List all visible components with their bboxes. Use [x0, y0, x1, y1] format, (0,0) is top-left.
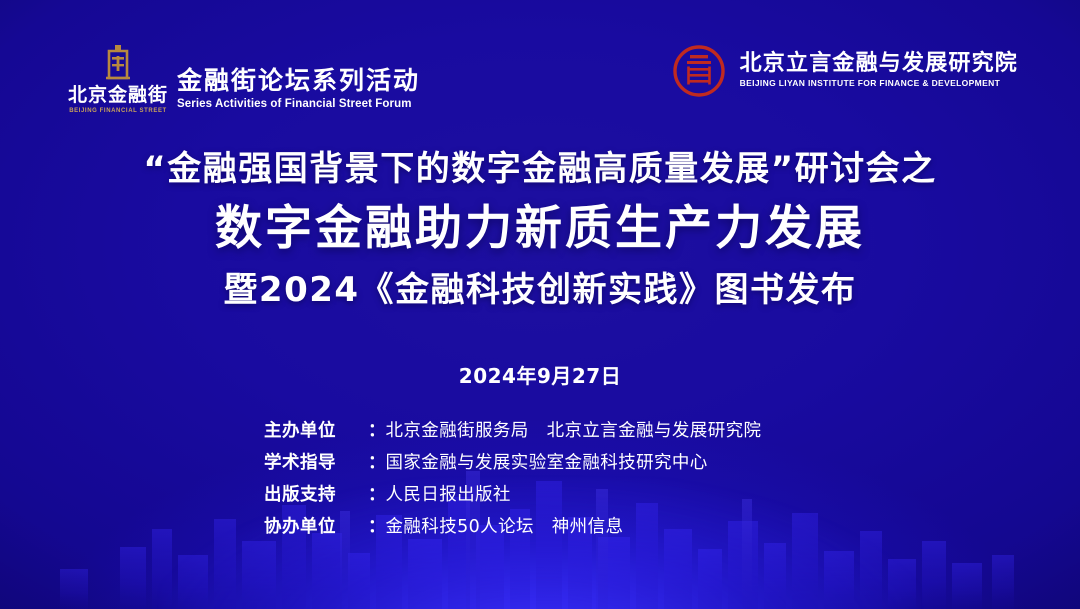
institute-name-zh: 北京立言金融与发展研究院 [740, 52, 1018, 76]
event-poster: 北京金融街 BEIJING FINANCIAL STREET 金融街论坛系列活动… [0, 0, 1080, 609]
poster-titles: “金融强国背景下的数字金融高质量发展”研讨会之 数字金融助力新质生产力发展 暨2… [0, 148, 1080, 311]
logo-left-en-name: BEIJING FINANCIAL STREET [69, 108, 167, 114]
logo-left-zh-name: 北京金融街 [68, 86, 168, 105]
credit-colon: ： [368, 514, 386, 541]
credit-row: 出版支持 ： 人民日报出版社 [264, 482, 816, 509]
credit-colon: ： [368, 482, 386, 509]
credit-colon: ： [368, 418, 386, 445]
title-line-1: “金融强国背景下的数字金融高质量发展”研讨会之 [0, 148, 1080, 191]
gate-seal-icon [101, 42, 135, 82]
credit-value: 国家金融与发展实验室金融科技研究中心 [386, 450, 708, 477]
credit-value: 北京金融街服务局 北京立言金融与发展研究院 [386, 418, 762, 445]
credit-label: 出版支持 [264, 482, 368, 509]
round-seal-icon [672, 44, 726, 98]
logo-right-titles: 北京立言金融与发展研究院 BEIJING LIYAN INSTITUTE FOR… [740, 52, 1018, 90]
title-line-3: 暨2024《金融科技创新实践》图书发布 [0, 269, 1080, 312]
credit-label: 协办单位 [264, 514, 368, 541]
credit-row: 主办单位 ： 北京金融街服务局 北京立言金融与发展研究院 [264, 418, 816, 445]
forum-series-title-en: Series Activities of Financial Street Fo… [177, 98, 420, 110]
logo-left-titles: 金融街论坛系列活动 Series Activities of Financial… [177, 68, 420, 114]
forum-series-title-zh: 金融街论坛系列活动 [177, 68, 420, 94]
credit-label: 学术指导 [264, 450, 368, 477]
credit-label: 主办单位 [264, 418, 368, 445]
logo-beijing-financial-street: 北京金融街 BEIJING FINANCIAL STREET 金融街论坛系列活动… [72, 42, 420, 114]
credits-block: 主办单位 ： 北京金融街服务局 北京立言金融与发展研究院 学术指导 ： 国家金融… [0, 418, 1080, 542]
credit-value: 人民日报出版社 [386, 482, 511, 509]
logo-left-mark: 北京金融街 BEIJING FINANCIAL STREET [72, 42, 164, 114]
credit-row: 学术指导 ： 国家金融与发展实验室金融科技研究中心 [264, 450, 816, 477]
event-date: 2024年9月27日 [0, 360, 1080, 389]
title-line-2-main: 数字金融助力新质生产力发展 [0, 201, 1080, 256]
credit-value: 金融科技50人论坛 神州信息 [386, 514, 624, 541]
credit-row: 协办单位 ： 金融科技50人论坛 神州信息 [264, 514, 816, 541]
logo-beijing-liyan-institute: 北京立言金融与发展研究院 BEIJING LIYAN INSTITUTE FOR… [672, 44, 1018, 98]
credit-colon: ： [368, 450, 386, 477]
poster-header: 北京金融街 BEIJING FINANCIAL STREET 金融街论坛系列活动… [0, 42, 1080, 122]
institute-name-en: BEIJING LIYAN INSTITUTE FOR FINANCE & DE… [740, 78, 1018, 88]
